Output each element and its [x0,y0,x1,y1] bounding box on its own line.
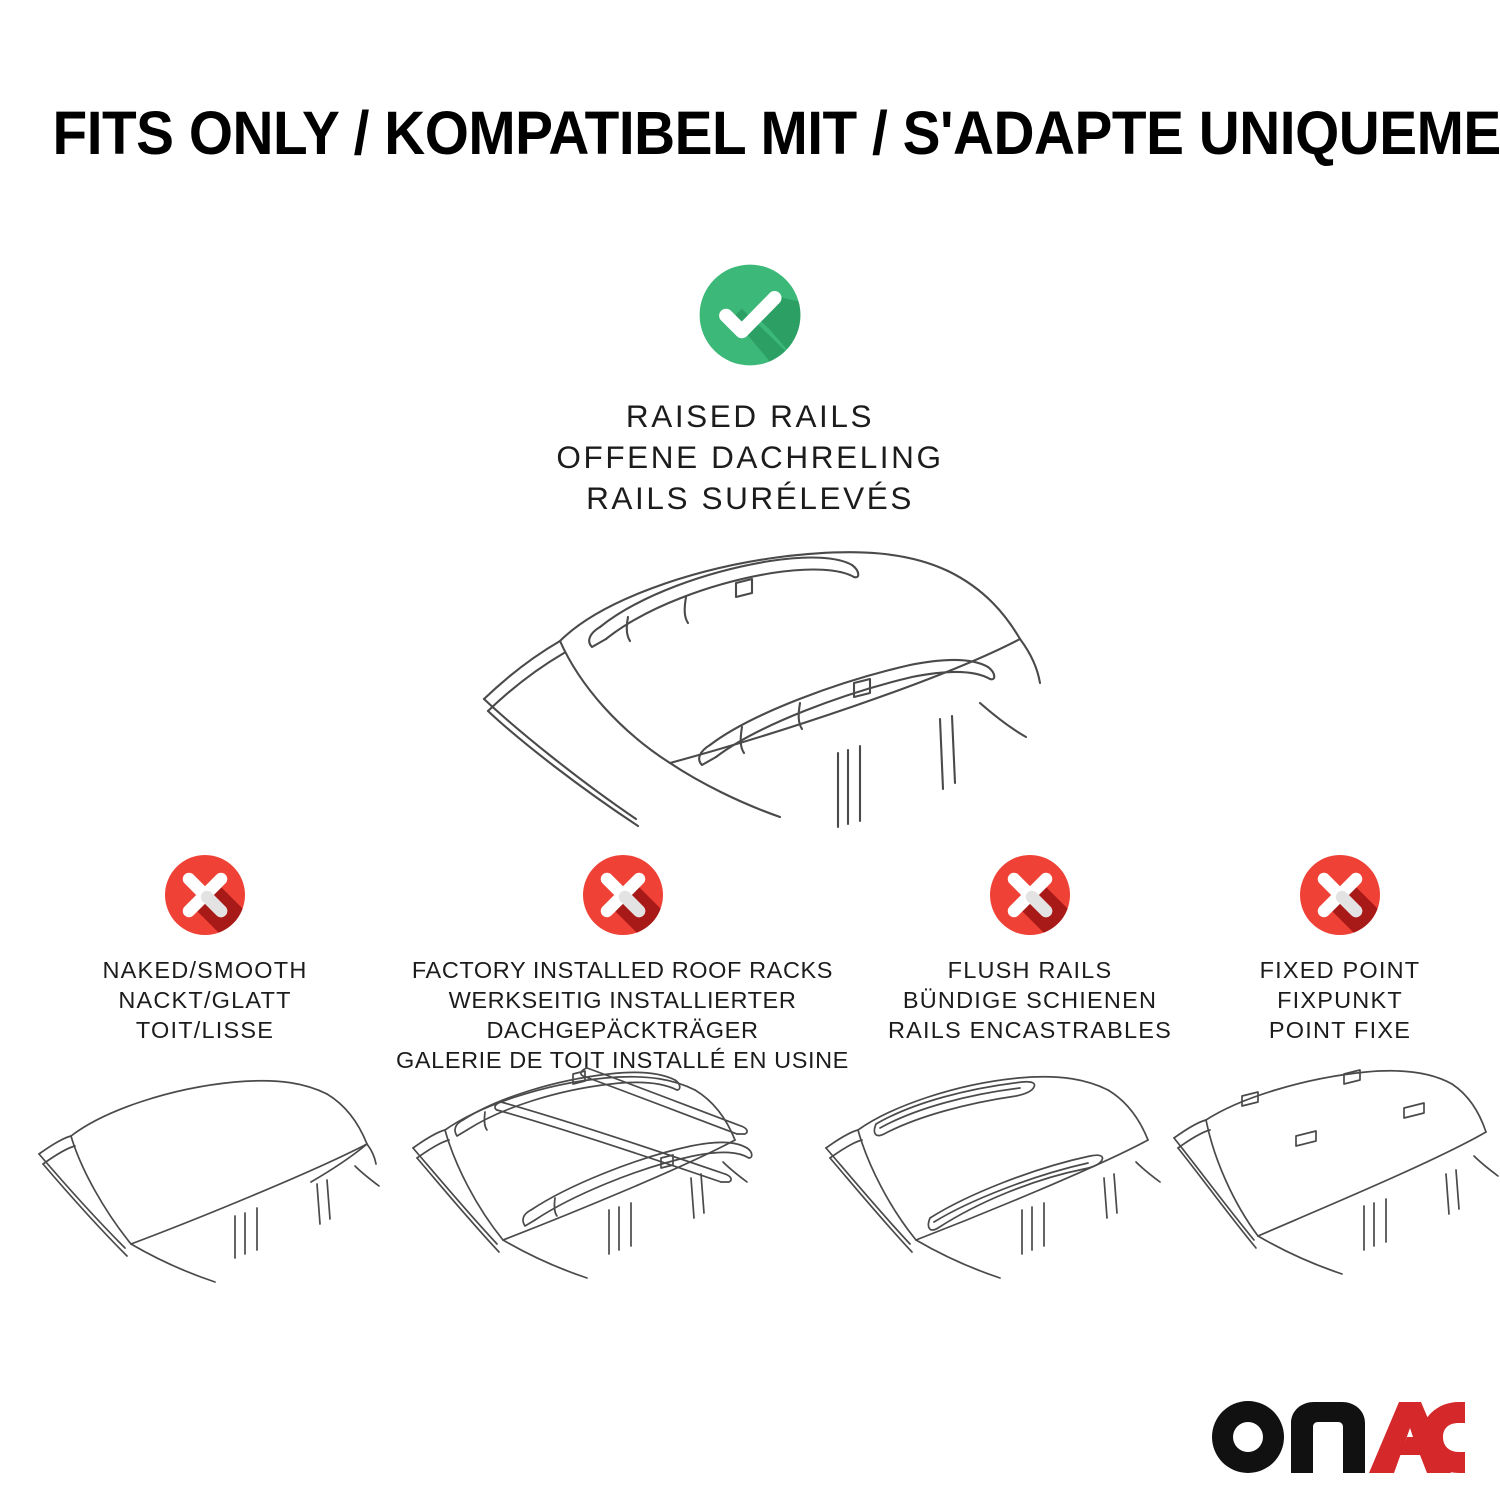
cross-icon-wrap-1 [25,845,385,945]
incompatible-labels-3: FLUSH RAILS BÜNDIGE SCHIENEN RAILS ENCAS… [860,956,1200,1046]
incompatible-labels-4: FIXED POINT FIXPUNKT POINT FIXE [1205,956,1475,1046]
incompatible-label-de-4: FIXPUNKT [1205,986,1475,1016]
incompatible-label-en-1: NAKED/SMOOTH [25,956,385,986]
car-roof-factory-roof-racks-illustration [405,1058,765,1293]
artwork-wrap-naked-smooth [35,1058,395,1293]
artwork-wrap-flush-rails [818,1058,1178,1293]
incompatible-label-en-4: FIXED POINT [1205,956,1475,986]
omac-logo-mark [1209,1397,1465,1475]
red-cross-circle-icon [980,845,1080,945]
page-title: FITS ONLY / KOMPATIBEL MIT / S'ADAPTE UN… [53,103,1448,164]
incompatible-column-flush-rails: FLUSH RAILS BÜNDIGE SCHIENEN RAILS ENCAS… [860,845,1200,1046]
red-cross-circle-icon [1290,845,1390,945]
incompatible-label-fr-1: TOIT/LISSE [25,1016,385,1046]
cross-icon-wrap-4 [1205,845,1475,945]
incompatible-column-fixed-point: FIXED POINT FIXPUNKT POINT FIXE [1205,845,1475,1046]
incompatible-column-factory-racks: FACTORY INSTALLED ROOF RACKS WERKSEITIG … [395,845,850,1075]
cross-icon-wrap-3 [860,845,1200,945]
incompatible-artwork-row [0,1058,1500,1298]
incompatible-column-naked-smooth: NAKED/SMOOTH NACKT/GLATT TOIT/LISSE [25,845,385,1046]
logo-letter-o [1212,1401,1284,1473]
incompatible-label-fr-3: RAILS ENCASTRABLES [860,1016,1200,1046]
logo-letter-m [1291,1402,1365,1473]
incompatible-labels-1: NAKED/SMOOTH NACKT/GLATT TOIT/LISSE [25,956,385,1046]
compatible-labels: RAISED RAILS OFFENE DACHRELING RAILS SUR… [0,396,1500,519]
compatible-label-en: RAISED RAILS [0,396,1500,437]
incompatible-label-en-2: FACTORY INSTALLED ROOF RACKS [395,956,850,986]
omac-logo [1209,1397,1465,1475]
incompatible-label-de2-2: DACHGEPÄCKTRÄGER [395,1016,850,1046]
car-roof-raised-rails-illustration [440,531,1060,831]
car-roof-flush-rails-illustration [818,1058,1178,1293]
red-cross-circle-icon [573,845,673,945]
artwork-wrap-factory-racks [405,1058,765,1293]
incompatible-label-en-3: FLUSH RAILS [860,956,1200,986]
fitment-info-page: FITS ONLY / KOMPATIBEL MIT / S'ADAPTE UN… [0,0,1500,1500]
compatible-label-de: OFFENE DACHRELING [0,437,1500,478]
green-check-circle-icon [687,252,813,378]
incompatible-label-de-1: NACKT/GLATT [25,986,385,1016]
compatible-artwork-wrap [0,531,1500,831]
artwork-wrap-fixed-point [1158,1058,1500,1293]
cross-icon-wrap-2 [395,845,850,945]
compatible-section: RAISED RAILS OFFENE DACHRELING RAILS SUR… [0,252,1500,831]
incompatible-label-de1-2: WERKSEITIG INSTALLIERTER [395,986,850,1016]
red-cross-circle-icon [155,845,255,945]
car-roof-fixed-point-illustration [1158,1058,1500,1293]
compatible-label-fr: RAILS SURÉLEVÉS [0,478,1500,519]
car-roof-naked-smooth-illustration [35,1058,395,1293]
compatible-icon-wrap [0,252,1500,378]
incompatible-label-de-3: BÜNDIGE SCHIENEN [860,986,1200,1016]
incompatible-label-fr-4: POINT FIXE [1205,1016,1475,1046]
